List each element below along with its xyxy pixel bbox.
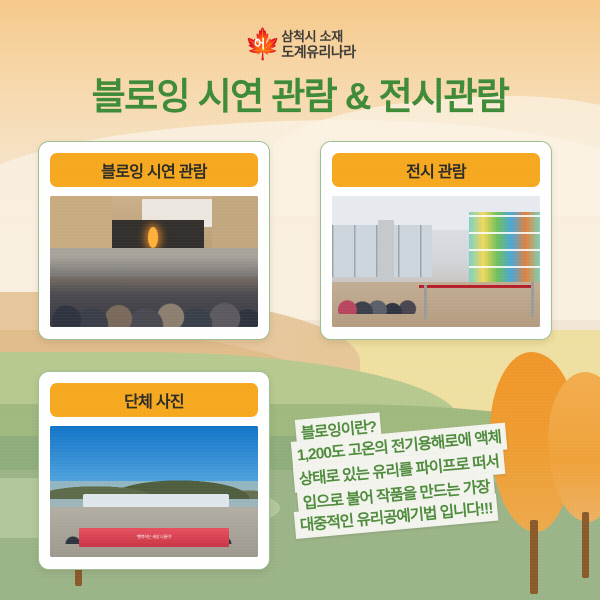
brand-logo: 🍁 어 삼척시 소재 도계유리나라 bbox=[0, 26, 600, 64]
card-title-group-photo: 단체 사진 bbox=[50, 383, 258, 417]
card-blowing-demo[interactable]: 블로잉 시연 관람 bbox=[38, 141, 270, 340]
card-group-photo[interactable]: 단체 사진 "행복하는 세상 나들이" bbox=[38, 371, 270, 570]
page-title: 블로잉 시연 관람 & 전시관람 bbox=[0, 66, 600, 120]
maple-leaf-icon: 🍁 어 bbox=[244, 26, 274, 64]
exhibition-hall-photo bbox=[332, 196, 540, 327]
brand-logo-text: 삼척시 소재 도계유리나라 bbox=[281, 29, 355, 61]
photo-visitors bbox=[338, 262, 432, 314]
leaf-inner-character: 어 bbox=[244, 35, 274, 52]
poster-canvas: 🍁 어 삼척시 소재 도계유리나라 블로잉 시연 관람 & 전시관람 블로잉 시… bbox=[0, 0, 600, 600]
glass-blowing-demonstration-photo bbox=[50, 196, 258, 327]
photo-wall-left bbox=[50, 196, 112, 256]
photo-event-banner-text: "행복하는 세상 나들이" bbox=[136, 534, 172, 540]
photo-audience bbox=[50, 256, 258, 327]
brand-line-1: 삼척시 소재 bbox=[281, 29, 355, 44]
photo-rope-post-right bbox=[531, 282, 534, 316]
card-exhibition[interactable]: 전시 관람 bbox=[320, 141, 552, 340]
photo-event-banner: "행복하는 세상 나들이" bbox=[79, 528, 229, 546]
brand-line-2: 도계유리나라 bbox=[281, 44, 355, 61]
card-title-blowing-demo: 블로잉 시연 관람 bbox=[50, 153, 258, 187]
photo-furnace-row bbox=[112, 220, 204, 249]
blowing-description-block: 블로잉이란? 1,200도 고온의 전기용해로에 액체 상태로 있는 유리를 파… bbox=[292, 414, 592, 564]
photo-wall-right bbox=[212, 196, 258, 256]
card-title-exhibition: 전시 관람 bbox=[332, 153, 540, 187]
group-photo: "행복하는 세상 나들이" bbox=[50, 426, 258, 557]
